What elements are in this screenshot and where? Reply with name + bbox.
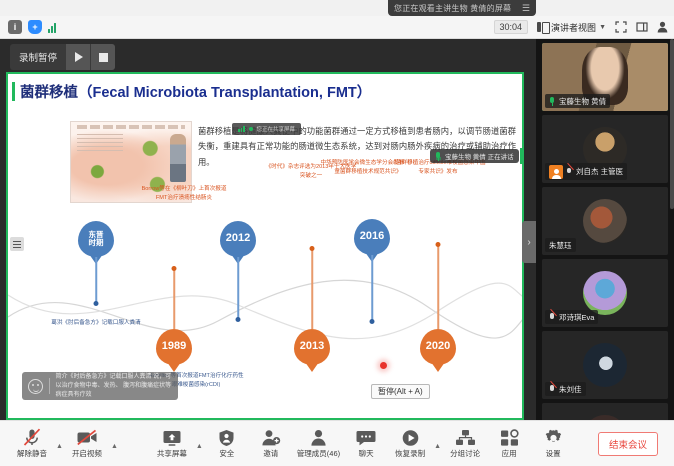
- recording-dot-icon: [249, 127, 253, 131]
- participant-name-chip: 朱慧珏: [545, 238, 576, 252]
- apps-icon: [500, 429, 519, 447]
- avatar: [583, 343, 627, 387]
- signal-bars-icon: [238, 126, 245, 132]
- illustration-human-figure: [170, 134, 186, 182]
- meeting-timer: 30:04: [494, 20, 529, 34]
- info-icon[interactable]: i: [8, 20, 22, 34]
- toolbar-right-group: 30:04 演讲者视图 ▼: [494, 20, 674, 34]
- unmute-label: 解除静音: [17, 448, 47, 459]
- timeline-pin-1989[interactable]: 1989: [156, 329, 192, 365]
- participant-name: 朱刘佳: [559, 384, 582, 395]
- participant-tile-4[interactable]: 朱刘佳: [542, 331, 668, 399]
- timeline-note-text: Borrow等在《柳叶刀》上首次报道FMT治疗溃疡性结肠炎: [142, 186, 227, 201]
- mic-muted-icon: [566, 167, 573, 176]
- screen-share-banner: 您正在观看主讲生物 黄倩的屏幕 ☰: [388, 0, 536, 16]
- play-icon[interactable]: [65, 44, 90, 70]
- participant-name: 宝藤生物 黄倩: [559, 96, 606, 107]
- timeline-pin-label: 东晋时期: [78, 221, 114, 257]
- timeline-pin-2016[interactable]: 2016: [354, 219, 390, 255]
- page-title: 菌群移植（Fecal Microbiota Transplantation, F…: [20, 81, 371, 102]
- speaker-highlight-border: [520, 148, 522, 164]
- invite-button[interactable]: 邀请: [249, 429, 293, 459]
- participant-tile-1[interactable]: 刘自杰 主管医: [542, 115, 668, 183]
- timeline-note-2012: Borrow等在《柳叶刀》上首次报道FMT治疗溃疡性结肠炎: [136, 185, 232, 203]
- slide-title-cn: 菌群移植: [20, 85, 78, 101]
- timeline-pin-label: 1989: [156, 329, 192, 365]
- apps-label: 应用: [502, 448, 517, 459]
- audio-options-chevron-icon[interactable]: ▲: [54, 443, 65, 450]
- participant-name: 朱慧珏: [549, 240, 572, 251]
- mic-muted-icon: [22, 428, 42, 447]
- timeline-pin-dongjin[interactable]: 东晋时期: [78, 221, 114, 257]
- participant-tile-0[interactable]: 宝藤生物 黄倩: [542, 43, 668, 111]
- mic-on-icon: [435, 152, 441, 161]
- timeline-pin-stem: [371, 255, 373, 321]
- timeline-pin-stem: [437, 245, 439, 329]
- security-label: 安全: [219, 448, 234, 459]
- share-options-chevron-icon[interactable]: ▲: [194, 443, 205, 450]
- split-view-icon[interactable]: [636, 21, 648, 33]
- stop-icon[interactable]: [90, 44, 115, 70]
- chat-icon: [356, 429, 376, 447]
- active-speaker-label: 宝藤生物 黄倩 正在讲话: [430, 149, 519, 163]
- speaker-view-icon: [537, 22, 548, 32]
- timeline-pin-stem: [237, 257, 239, 319]
- apps-button[interactable]: 应用: [487, 429, 531, 459]
- slide-menu-icon[interactable]: [10, 237, 24, 251]
- timeline: 东晋时期 葛洪《肘后备急方》记载口服人粪清 1989 Hamilto: [8, 229, 524, 389]
- timeline-note-dongjin: 葛洪《肘后备急方》记载口服人粪清: [48, 319, 144, 328]
- timeline-pin-stem: [173, 269, 175, 329]
- recording-status-label: 录制暂停: [10, 50, 65, 64]
- resume-recording-label: 恢复录制: [395, 448, 425, 459]
- mic-on-icon: [549, 97, 556, 106]
- pause-tooltip: 暂停(Alt + A): [371, 384, 430, 399]
- breakout-rooms-label: 分组讨论: [450, 448, 480, 459]
- view-mode-label: 演讲者视图: [551, 21, 596, 34]
- window-toolbar: i + 30:04 演讲者视图 ▼: [0, 16, 674, 39]
- participant-name-chip: 刘自杰 主管医: [545, 163, 627, 180]
- participant-name-chip: 朱刘佳: [545, 382, 586, 396]
- slide-title-en: （Fecal Microbiota Transplantation, FMT）: [78, 85, 371, 101]
- share-banner-text: 您正在观看主讲生物 黄倩的屏幕: [394, 3, 511, 14]
- participant-name-chip: 宝藤生物 黄倩: [545, 94, 610, 108]
- participant-tile-2[interactable]: 朱慧珏: [542, 187, 668, 255]
- hamburger-icon[interactable]: ☰: [522, 4, 530, 13]
- share-screen-button[interactable]: 共享屏幕: [150, 429, 194, 459]
- timeline-pin-label: 2012: [220, 221, 256, 257]
- audio-video-group: 解除静音 ▲ 开启视频 ▲: [10, 428, 120, 459]
- participant-rail[interactable]: 宝藤生物 黄倩 刘自杰 主管医 朱慧珏 邓诗琪Eva: [536, 39, 674, 420]
- host-icon: [549, 165, 563, 179]
- timeline-pin-2012[interactable]: 2012: [220, 221, 256, 257]
- fullscreen-icon[interactable]: [615, 21, 627, 33]
- participant-tile-5[interactable]: [542, 403, 668, 420]
- active-speaker-name: 宝藤生物 黄倩 正在讲话: [445, 151, 514, 161]
- manage-participants-button[interactable]: 管理成员(46): [293, 429, 344, 459]
- red-dot-marker-icon: [380, 362, 387, 369]
- toolbar-left-group: i +: [0, 20, 56, 34]
- timeline-pin-dot: [94, 301, 99, 306]
- network-bars-icon[interactable]: [48, 22, 56, 33]
- avatar: [583, 271, 627, 315]
- chevron-down-icon: ▼: [599, 24, 606, 31]
- resume-recording-button[interactable]: 恢复录制: [388, 429, 432, 459]
- breakout-rooms-icon: [455, 429, 476, 447]
- rail-scrollbar[interactable]: [670, 39, 674, 209]
- timeline-pin-stem: [95, 257, 97, 303]
- timeline-pin-dot: [436, 242, 441, 247]
- timeline-pin-label: 2016: [354, 219, 390, 255]
- sharing-status-strip: 您正在共享屏幕: [232, 123, 301, 135]
- timeline-pin-2020[interactable]: 2020: [420, 329, 456, 365]
- view-mode-selector[interactable]: 演讲者视图 ▼: [537, 21, 606, 34]
- timeline-note-text: 葛洪《肘后备急方》记载口服人粪清: [51, 320, 141, 326]
- recording-options-chevron-icon[interactable]: ▲: [432, 443, 443, 450]
- illustration-text-lines: [77, 134, 123, 154]
- participant-tile-3[interactable]: 邓诗琪Eva: [542, 259, 668, 327]
- title-accent-bar: [12, 82, 15, 101]
- timeline-pin-dot: [370, 319, 375, 324]
- invite-label: 邀请: [263, 448, 278, 459]
- illustration-caption-strip: [77, 125, 185, 129]
- start-video-button[interactable]: 开启视频: [65, 428, 109, 459]
- video-off-icon: [76, 428, 98, 447]
- shared-screen-stage: 菌群移植（Fecal Microbiota Transplantation, F…: [0, 39, 536, 420]
- participant-icon[interactable]: [657, 21, 668, 33]
- breakout-rooms-button[interactable]: 分组讨论: [443, 429, 487, 459]
- sharing-status-text: 您正在共享屏幕: [257, 125, 296, 133]
- participant-name: 邓诗琪Eva: [559, 312, 594, 323]
- share-screen-label: 共享屏幕: [157, 448, 187, 459]
- shield-icon[interactable]: +: [28, 20, 42, 34]
- timeline-pin-dot: [236, 317, 241, 322]
- meeting-window: 您正在观看主讲生物 黄倩的屏幕 ☰ i + 30:04 演讲者视图 ▼: [0, 0, 674, 466]
- annotation-overlay[interactable]: 简介《时后备急方》记载口服人粪清 说，可以治疗食物中毒、发热、 腹泻和腹痛症状等…: [22, 372, 178, 400]
- unmute-button[interactable]: 解除静音: [10, 428, 54, 459]
- chevron-right-icon[interactable]: ›: [522, 221, 536, 263]
- settings-button[interactable]: 设置: [531, 429, 575, 459]
- participants-icon: [309, 429, 328, 447]
- timeline-pin-label: 2020: [420, 329, 456, 365]
- security-button[interactable]: 安全: [205, 429, 249, 459]
- share-screen-icon: [162, 429, 182, 447]
- security-icon: [218, 429, 235, 447]
- recording-control-bar: 录制暂停: [10, 44, 115, 70]
- invite-icon: [261, 429, 281, 447]
- start-video-label: 开启视频: [72, 448, 102, 459]
- settings-label: 设置: [546, 448, 561, 459]
- timeline-pin-dot: [172, 266, 177, 271]
- mic-muted-icon: [549, 313, 556, 322]
- participant-name-chip: 邓诗琪Eva: [545, 310, 598, 324]
- manage-participants-label: 管理成员(46): [297, 448, 340, 459]
- gear-icon: [544, 429, 563, 447]
- annotation-overlay-text: 简介《时后备急方》记载口服人粪清 说，可以治疗食物中毒、发热、 腹泻和腹痛症状等…: [55, 373, 172, 400]
- timeline-pin-dot: [310, 246, 315, 251]
- end-meeting-button[interactable]: 结束会议: [598, 432, 658, 456]
- meeting-controls-toolbar: 解除静音 ▲ 开启视频 ▲ 共享屏幕: [0, 420, 674, 466]
- smiley-icon[interactable]: [28, 379, 43, 394]
- meeting-actions-group: 共享屏幕 ▲ 安全 邀请: [150, 429, 575, 459]
- timeline-pin-2013[interactable]: 2013: [294, 329, 330, 365]
- mic-muted-icon: [549, 385, 556, 394]
- participant-name: 刘自杰 主管医: [576, 166, 623, 177]
- avatar: [583, 199, 627, 243]
- timeline-pin-label: 2013: [294, 329, 330, 365]
- chat-label: 聊天: [359, 448, 374, 459]
- chat-button[interactable]: 聊天: [344, 429, 388, 459]
- timeline-pin-stem: [311, 249, 313, 329]
- video-options-chevron-icon[interactable]: ▲: [109, 443, 120, 450]
- record-icon: [401, 429, 420, 447]
